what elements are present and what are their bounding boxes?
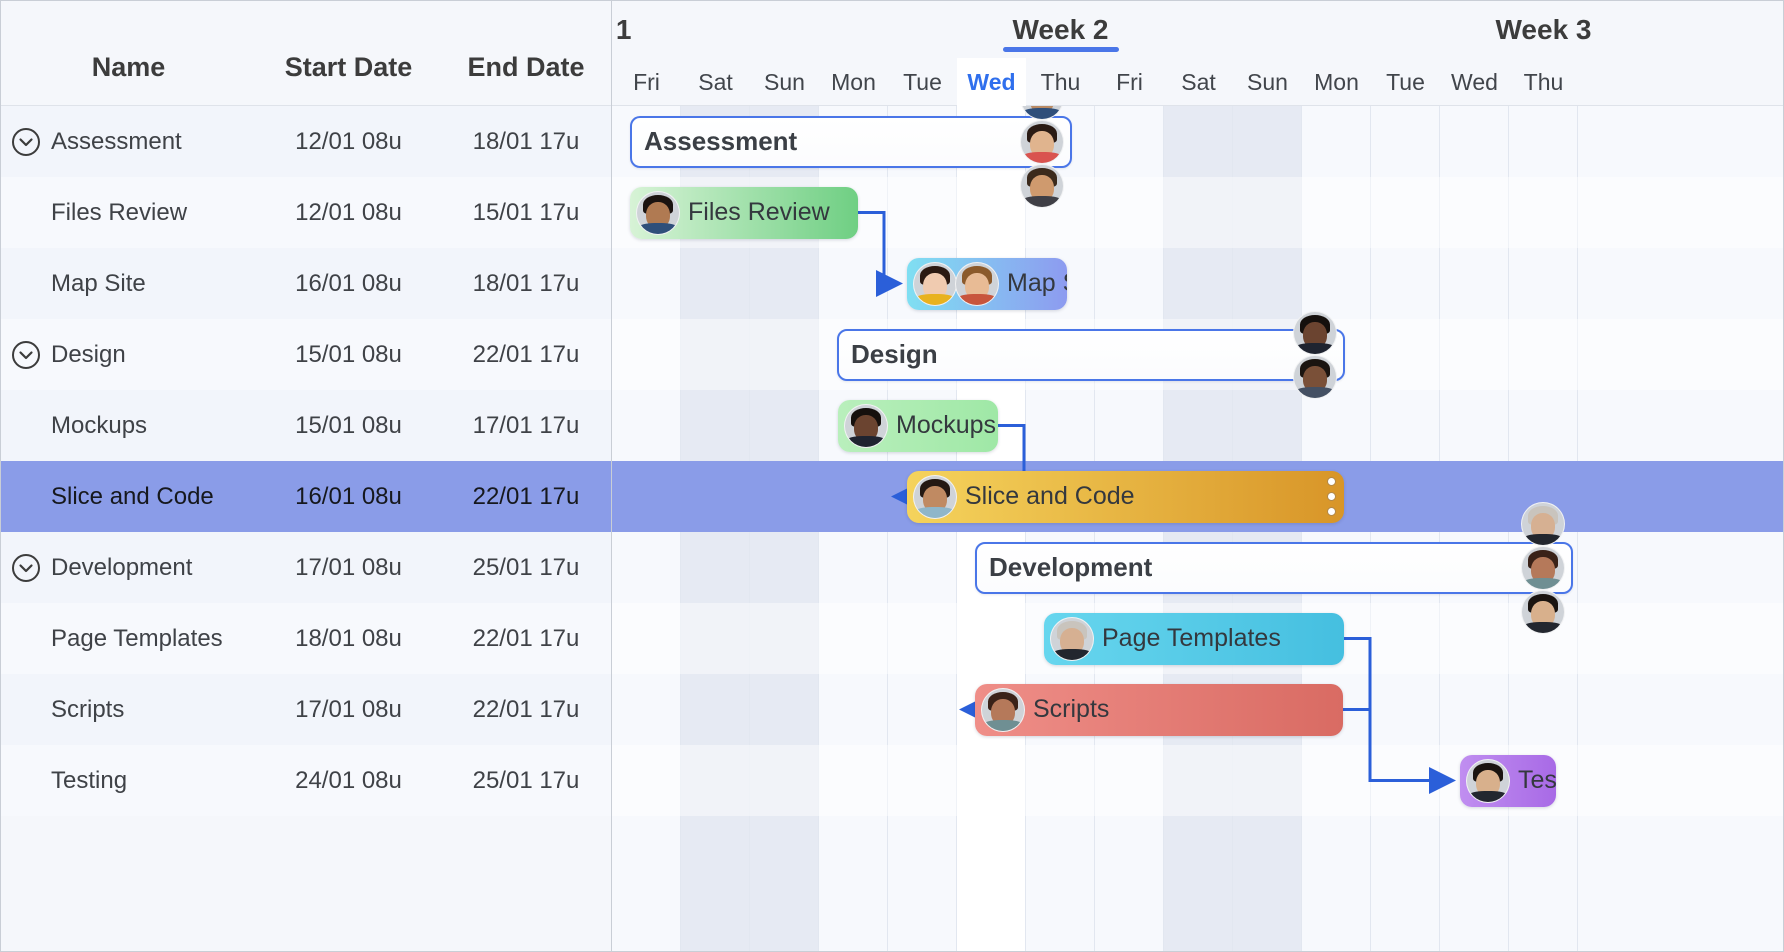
chevron-down-circle-icon[interactable] [11, 340, 41, 370]
task-name-label: Map Site [51, 270, 146, 298]
grid-cell-name: Development [1, 553, 256, 583]
grid-cell-end-date: 22/01 17u [441, 696, 611, 724]
task-name-label: Testing [51, 767, 127, 795]
grid-cell-name: Assessment [1, 127, 256, 157]
task-bar-label: Map Site [997, 269, 1067, 298]
grid-cell-name: Testing [1, 767, 256, 795]
grid-cell-end-date: 22/01 17u [441, 341, 611, 369]
task-bar-files-review[interactable]: Files Review [630, 187, 858, 239]
table-row[interactable]: Slice and Code16/01 08u22/01 17u [1, 461, 611, 532]
day-header-sun-2: Sun [750, 58, 819, 106]
avatar-group [975, 688, 1023, 732]
grid-cell-start-date: 15/01 08u [256, 341, 441, 369]
grid-cell-start-date: 17/01 08u [256, 554, 441, 582]
task-name-label: Page Templates [51, 625, 223, 653]
grid-cell-start-date: 15/01 08u [256, 412, 441, 440]
grid-cell-name: Mockups [1, 412, 256, 440]
timeline-row-band[interactable] [612, 248, 1783, 319]
grid-cell-name: Scripts [1, 696, 256, 724]
timeline-row-band[interactable] [612, 745, 1783, 816]
avatar-person-5 [955, 262, 999, 306]
task-bar-mockups[interactable]: Mockups [838, 400, 998, 452]
grid-cell-start-date: 18/01 08u [256, 625, 441, 653]
grid-cell-end-date: 15/01 17u [441, 199, 611, 227]
avatar-person-2 [1020, 120, 1064, 164]
avatar-person-10 [1521, 546, 1565, 590]
table-row[interactable]: Scripts17/01 08u22/01 17u [1, 674, 611, 745]
grid-cell-name: Files Review [1, 199, 256, 227]
task-name-label: Slice and Code [51, 483, 214, 511]
task-bar-label: Scripts [1023, 695, 1109, 724]
day-header-tue-4: Tue [888, 58, 957, 106]
grid-cell-name: Page Templates [1, 625, 256, 653]
chevron-down-circle-icon[interactable] [11, 127, 41, 157]
avatar-group [907, 475, 955, 519]
day-header-wed-12: Wed [1440, 58, 1509, 106]
avatar-group [907, 262, 997, 306]
avatar-person-11 [1466, 759, 1510, 803]
task-bar-label: Tes [1508, 766, 1556, 795]
timeline-header: k 1Week 2Week 3 FriSatSunMonTueWedThuFri… [612, 1, 1783, 106]
timeline-pane: k 1Week 2Week 3 FriSatSunMonTueWedThuFri… [612, 1, 1783, 951]
bar-handle-dot[interactable] [1327, 477, 1336, 486]
gantt-chart-app: Name Start Date End Date Assessment12/01… [0, 0, 1784, 952]
bar-resize-handles[interactable] [1327, 471, 1336, 523]
avatar-person-1 [636, 191, 680, 235]
grid-cell-name: Design [1, 340, 256, 370]
task-name-label: Files Review [51, 199, 187, 227]
grid-cell-end-date: 22/01 17u [441, 483, 611, 511]
task-name-label: Mockups [51, 412, 147, 440]
table-row[interactable]: Assessment12/01 08u18/01 17u [1, 106, 611, 177]
avatar-person-6 [844, 404, 888, 448]
avatar-group [1044, 617, 1092, 661]
avatar-person-11 [1521, 590, 1565, 634]
table-row[interactable]: Files Review12/01 08u15/01 17u [1, 177, 611, 248]
column-header-start-date[interactable]: Start Date [256, 52, 441, 105]
task-bar-scripts[interactable]: Scripts [975, 684, 1343, 736]
grid-cell-end-date: 25/01 17u [441, 554, 611, 582]
task-bar-label: Page Templates [1092, 624, 1281, 653]
grid-cell-end-date: 17/01 17u [441, 412, 611, 440]
task-bar-label: Files Review [678, 198, 830, 227]
avatar-person-6 [1293, 311, 1337, 355]
avatar-group [630, 191, 678, 235]
summary-bar-label: Development [977, 552, 1152, 583]
avatar-person-4 [913, 262, 957, 306]
grid-cell-start-date: 12/01 08u [256, 128, 441, 156]
table-row[interactable]: Map Site16/01 08u18/01 17u [1, 248, 611, 319]
day-header-thu-6: Thu [1026, 58, 1095, 106]
task-name-label: Assessment [51, 128, 182, 156]
grid-cell-name: Map Site [1, 270, 256, 298]
avatar-group [1020, 106, 1070, 208]
grid-cell-end-date: 18/01 17u [441, 270, 611, 298]
task-grid-pane: Name Start Date End Date Assessment12/01… [1, 1, 612, 951]
task-bar-label: Mockups [886, 411, 996, 440]
avatar-person-1 [1020, 106, 1064, 120]
timeline-body: AssessmentFiles ReviewMap SiteDesignMock… [612, 106, 1783, 951]
avatar-person-9 [1050, 617, 1094, 661]
column-header-end-date[interactable]: End Date [441, 52, 611, 105]
avatar-group [1521, 502, 1571, 634]
active-week-underline [1003, 47, 1119, 52]
avatar-person-3 [1020, 164, 1064, 208]
summary-bar-design[interactable]: Design [837, 329, 1345, 381]
day-header-mon-10: Mon [1302, 58, 1371, 106]
avatar-group [1293, 311, 1343, 399]
day-header-fri-7: Fri [1095, 58, 1164, 106]
week-header-2: Week 2 [819, 1, 1302, 58]
avatar-person-10 [981, 688, 1025, 732]
grid-cell-start-date: 17/01 08u [256, 696, 441, 724]
grid-cell-start-date: 16/01 08u [256, 270, 441, 298]
table-row[interactable]: Mockups15/01 08u17/01 17u [1, 390, 611, 461]
task-bar-map-site[interactable]: Map Site [907, 258, 1067, 310]
week-header-1: k 1 [612, 1, 819, 58]
day-header-mon-3: Mon [819, 58, 888, 106]
task-name-label: Development [51, 554, 192, 582]
week-header-label: Week 2 [1013, 14, 1109, 46]
day-header-sat-1: Sat [681, 58, 750, 106]
grid-cell-end-date: 25/01 17u [441, 767, 611, 795]
grid-cell-start-date: 12/01 08u [256, 199, 441, 227]
bar-handle-dot[interactable] [1327, 507, 1336, 516]
task-bar-slice-and-code[interactable]: Slice and Code [907, 471, 1344, 523]
day-header-tue-11: Tue [1371, 58, 1440, 106]
avatar-person-9 [1521, 502, 1565, 546]
grid-cell-name: Slice and Code [1, 483, 256, 511]
bar-handle-dot[interactable] [1327, 492, 1336, 501]
table-row[interactable]: Design15/01 08u22/01 17u [1, 319, 611, 390]
grid-cell-start-date: 24/01 08u [256, 767, 441, 795]
summary-bar-label: Design [839, 339, 938, 370]
grid-header-row: Name Start Date End Date [1, 1, 611, 106]
avatar-group [1460, 759, 1508, 803]
avatar-group [838, 404, 886, 448]
grid-cell-start-date: 16/01 08u [256, 483, 441, 511]
day-header-wed-5: Wed [957, 58, 1026, 106]
table-row[interactable]: Page Templates18/01 08u22/01 17u [1, 603, 611, 674]
grid-cell-end-date: 22/01 17u [441, 625, 611, 653]
task-bar-page-templates[interactable]: Page Templates [1044, 613, 1344, 665]
column-header-name[interactable]: Name [1, 52, 256, 105]
summary-bar-label: Assessment [632, 126, 797, 157]
day-header-thu-13: Thu [1509, 58, 1578, 106]
task-name-label: Design [51, 341, 126, 369]
avatar-person-8 [913, 475, 957, 519]
week-header-label: k 1 [612, 14, 631, 46]
task-name-label: Scripts [51, 696, 124, 724]
summary-bar-development[interactable]: Development [975, 542, 1573, 594]
chevron-down-circle-icon[interactable] [11, 553, 41, 583]
week-header-label: Week 3 [1496, 14, 1592, 46]
timeline-day-row: FriSatSunMonTueWedThuFriSatSunMonTueWedT… [612, 58, 1783, 106]
timeline-row-band[interactable] [612, 390, 1783, 461]
day-header-sat-8: Sat [1164, 58, 1233, 106]
day-header-sun-9: Sun [1233, 58, 1302, 106]
timeline-week-row: k 1Week 2Week 3 [612, 1, 1783, 58]
day-header-fri-0: Fri [612, 58, 681, 106]
grid-cell-end-date: 18/01 17u [441, 128, 611, 156]
grid-row-list: Assessment12/01 08u18/01 17uFiles Review… [1, 106, 611, 816]
table-row[interactable]: Testing24/01 08u25/01 17u [1, 745, 611, 816]
table-row[interactable]: Development17/01 08u25/01 17u [1, 532, 611, 603]
summary-bar-assessment[interactable]: Assessment [630, 116, 1072, 168]
task-bar-testing[interactable]: Tes [1460, 755, 1556, 807]
week-header-3: Week 3 [1302, 1, 1783, 58]
avatar-person-7 [1293, 355, 1337, 399]
task-bar-label: Slice and Code [955, 482, 1135, 511]
